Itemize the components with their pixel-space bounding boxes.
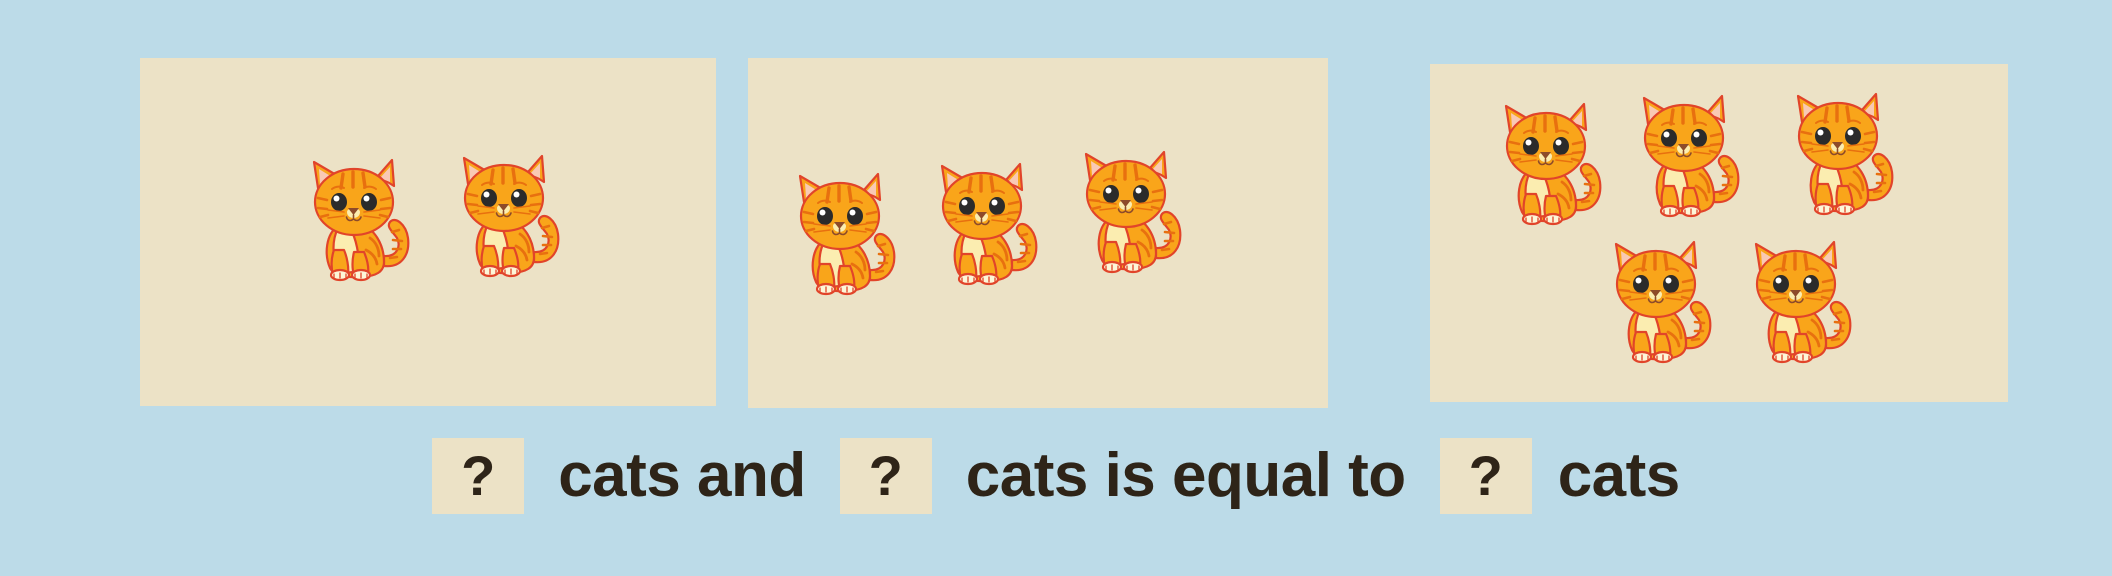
cat-figure (1782, 88, 1902, 218)
answer-blank-2[interactable]: ? (840, 438, 932, 514)
cat-figure (1740, 236, 1860, 366)
cat-figure (926, 158, 1046, 288)
cat-figure (298, 154, 418, 284)
cat-figure (784, 168, 904, 298)
cat-panel-first-addend (140, 58, 716, 406)
cat-figure (448, 150, 568, 280)
answer-blank-1[interactable]: ? (432, 438, 524, 514)
equation-row: ? cats and ? cats is equal to ? cats (0, 406, 2112, 546)
cat-panel-second-addend (748, 58, 1328, 408)
cat-figure (1600, 236, 1720, 366)
equation-word-2: cats is equal to (966, 445, 1406, 507)
answer-blank-3[interactable]: ? (1440, 438, 1532, 514)
cat-figure (1490, 98, 1610, 228)
cat-figure (1628, 90, 1748, 220)
worksheet-canvas: ? cats and ? cats is equal to ? cats (0, 0, 2112, 576)
cat-panel-sum (1430, 64, 2008, 402)
cat-figure (1070, 146, 1190, 276)
equation-word-1: cats and (558, 445, 806, 507)
equation-word-3: cats (1558, 445, 1680, 507)
